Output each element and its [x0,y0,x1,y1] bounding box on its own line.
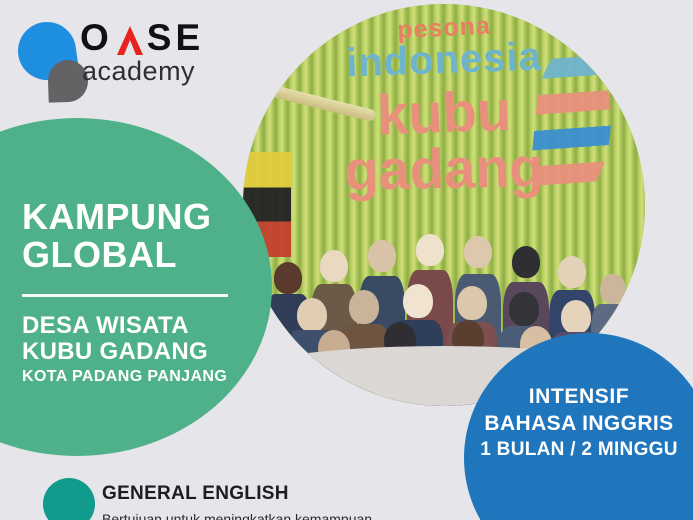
general-english-description: Bertujuan untuk meningkatkan kemampuan [102,510,522,520]
program-title-line1: KAMPUNG [22,198,252,236]
title-divider [22,294,228,297]
logo-subtitle: academy [82,56,195,87]
city-name: KOTA PADANG PANJANG [22,368,252,386]
program-title-block: KAMPUNG GLOBAL DESA WISATA KUBU GADANG K… [22,198,252,386]
general-english-block: GENERAL ENGLISH Bertujuan untuk meningka… [102,483,522,520]
promotional-flyer: O S E academy pesona indonesia kubu gada… [0,0,693,520]
oase-academy-logo: O S E academy [18,18,233,108]
teal-bullet-circle [43,478,95,520]
logo-letter-s: S [147,18,176,58]
course-intensity: INTENSIF [464,385,693,409]
general-english-title: GENERAL ENGLISH [102,483,522,505]
logo-letter-e: E [175,18,204,58]
course-duration: 1 BULAN / 2 MINGGU [464,439,693,461]
logo-letter-o: O [80,18,113,58]
course-subject: BAHASA INGGRIS [464,412,693,436]
village-name-line2: KUBU GADANG [22,339,252,365]
course-info-block: INTENSIF BAHASA INGGRIS 1 BULAN / 2 MING… [464,385,693,461]
program-title-line2: GLOBAL [22,236,252,274]
logo-wordmark: O S E [80,18,204,58]
village-name-line1: DESA WISATA [22,313,252,339]
logo-letter-a-chevron-icon [115,18,145,58]
